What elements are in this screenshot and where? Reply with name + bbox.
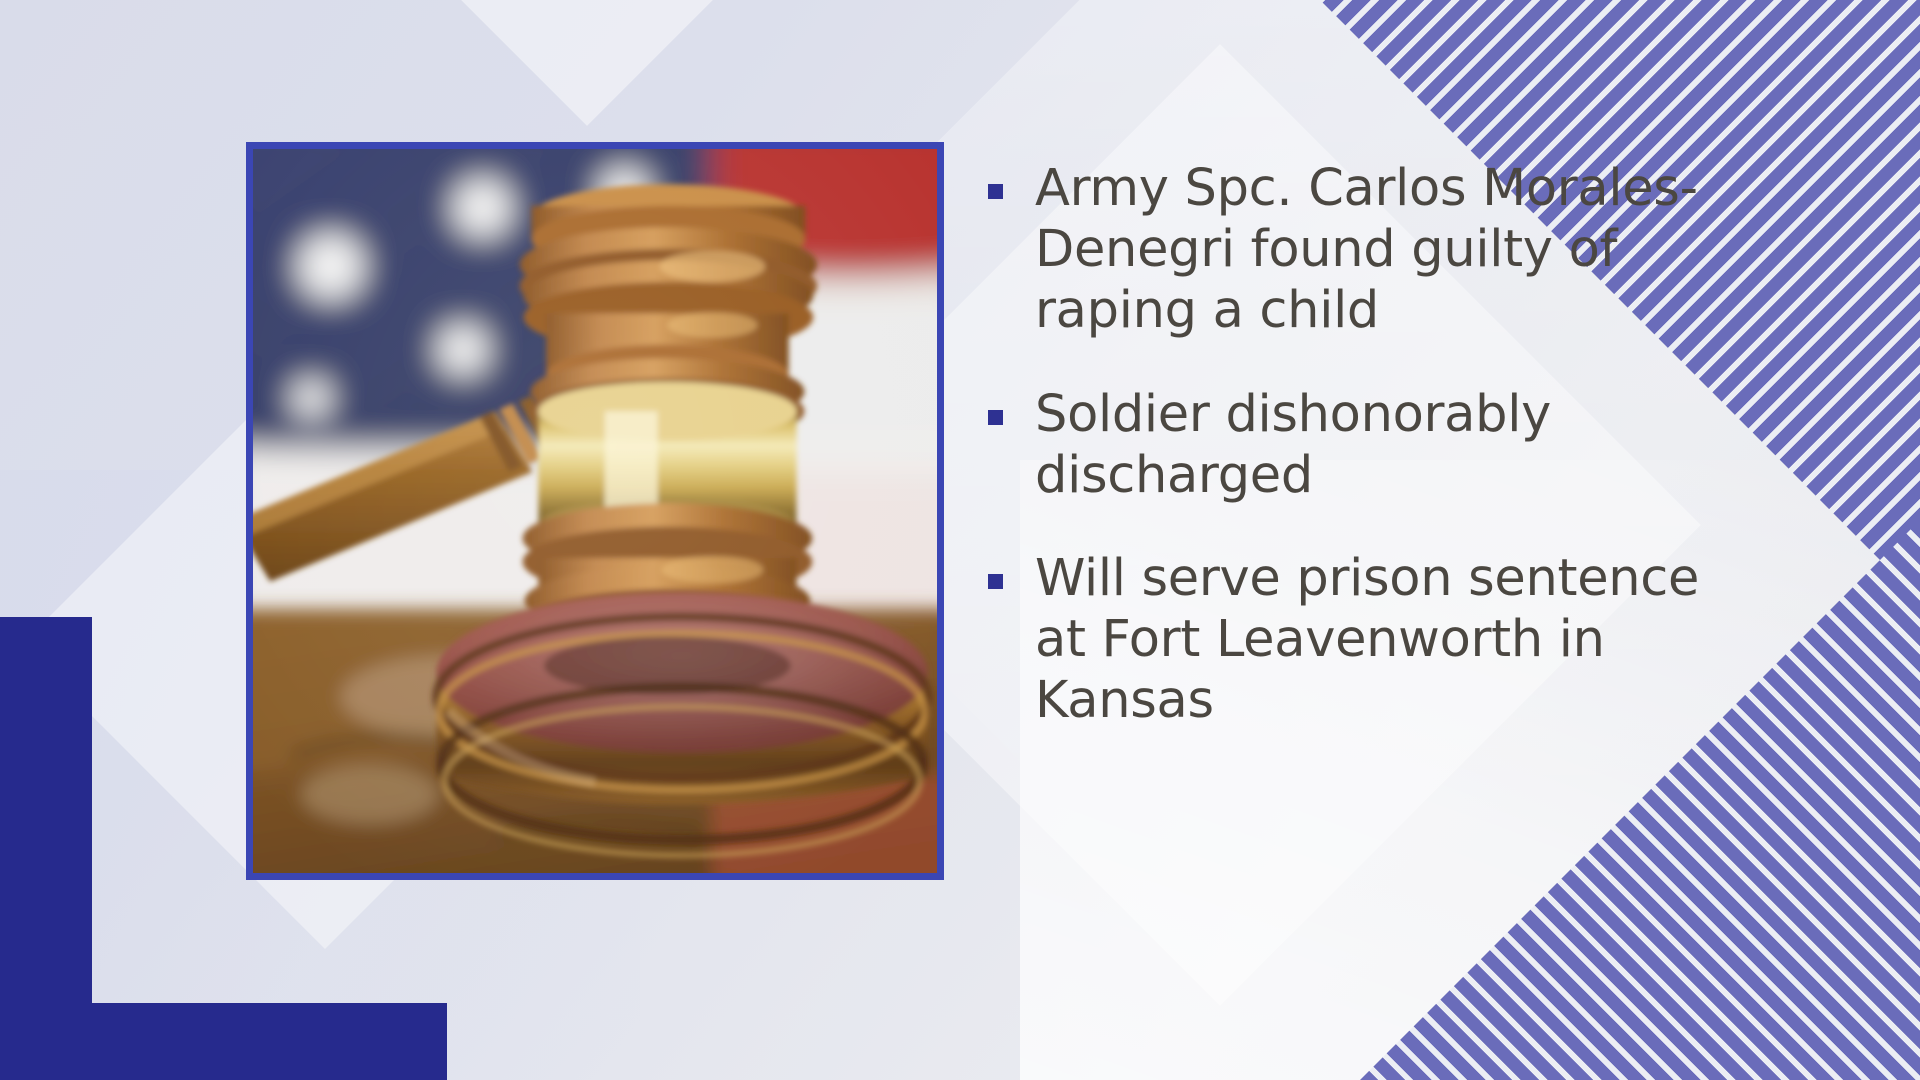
square-bullet-icon [988,574,1003,589]
bullet-list: Army Spc. Carlos Morales-Denegri found g… [988,158,1708,732]
square-bullet-icon [988,184,1003,199]
gavel-photo [253,149,937,873]
list-item: Will serve prison sentence at Fort Leave… [988,548,1708,732]
list-item: Soldier dishonorably discharged [988,384,1708,506]
list-item: Army Spc. Carlos Morales-Denegri found g… [988,158,1708,342]
bullet-text: Will serve prison sentence at Fort Leave… [1035,548,1708,732]
bullet-text: Soldier dishonorably discharged [1035,384,1708,506]
bullet-text: Army Spc. Carlos Morales-Denegri found g… [1035,158,1708,342]
gavel-photo-frame [246,142,944,880]
news-graphic-slide: Army Spc. Carlos Morales-Denegri found g… [0,0,1920,1080]
square-bullet-icon [988,410,1003,425]
top-diamond-shape [396,0,778,126]
bottom-left-blue-horizontal-bar [0,1003,447,1080]
